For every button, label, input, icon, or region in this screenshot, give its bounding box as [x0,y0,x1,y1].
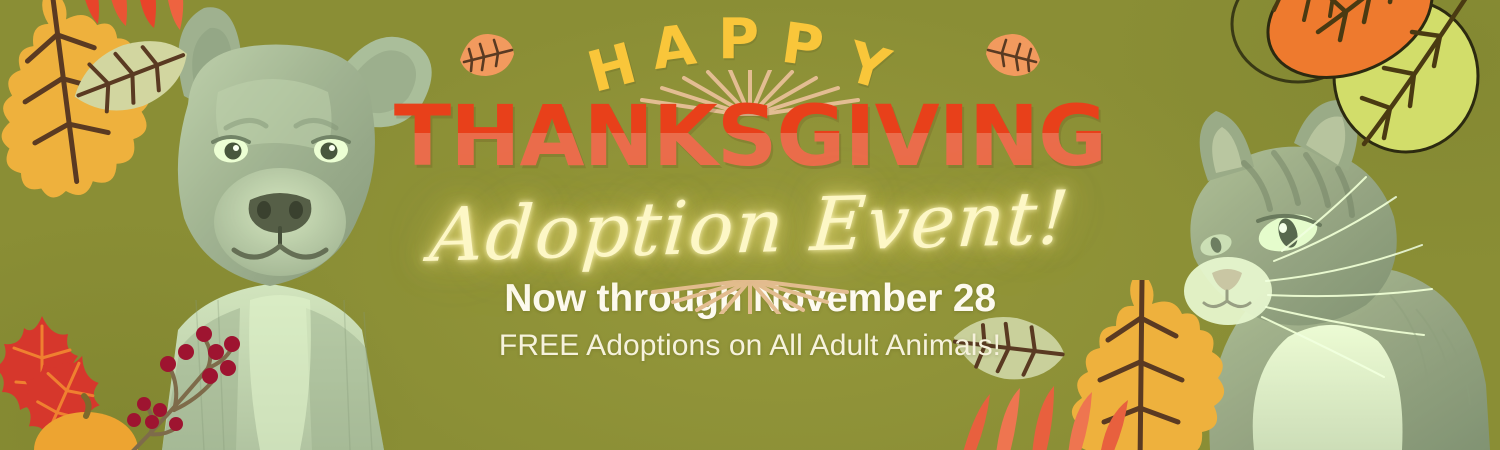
happy-letter-3: P [718,12,759,68]
happy-letter-4: P [778,16,826,77]
leaf-flourish-right-icon [984,32,1042,78]
dog-photo [100,0,460,450]
happy-letter-5: Y [841,35,895,100]
adoption-event-script: Adoption Event! [427,181,1073,274]
event-dateline: Now through November 28 [504,279,996,320]
sunburst-rays-bottom-icon [605,280,895,314]
thanksgiving-word: THANKSGIVING [394,87,1106,185]
happy-letter-1: H [582,36,642,102]
thanksgiving-adoption-banner: H A P P Y [0,0,1500,450]
sunburst-rays-top-icon [600,70,900,116]
cat-photo [1170,85,1500,450]
happy-letter-2: A [648,18,699,79]
happy-word-block: H A P P Y [470,10,1030,88]
event-subline: FREE Adoptions on All Adult Animals! [499,330,1001,362]
thanksgiving-word-block: THANKSGIVING [394,84,1106,188]
leaf-flourish-left-icon [458,32,516,78]
